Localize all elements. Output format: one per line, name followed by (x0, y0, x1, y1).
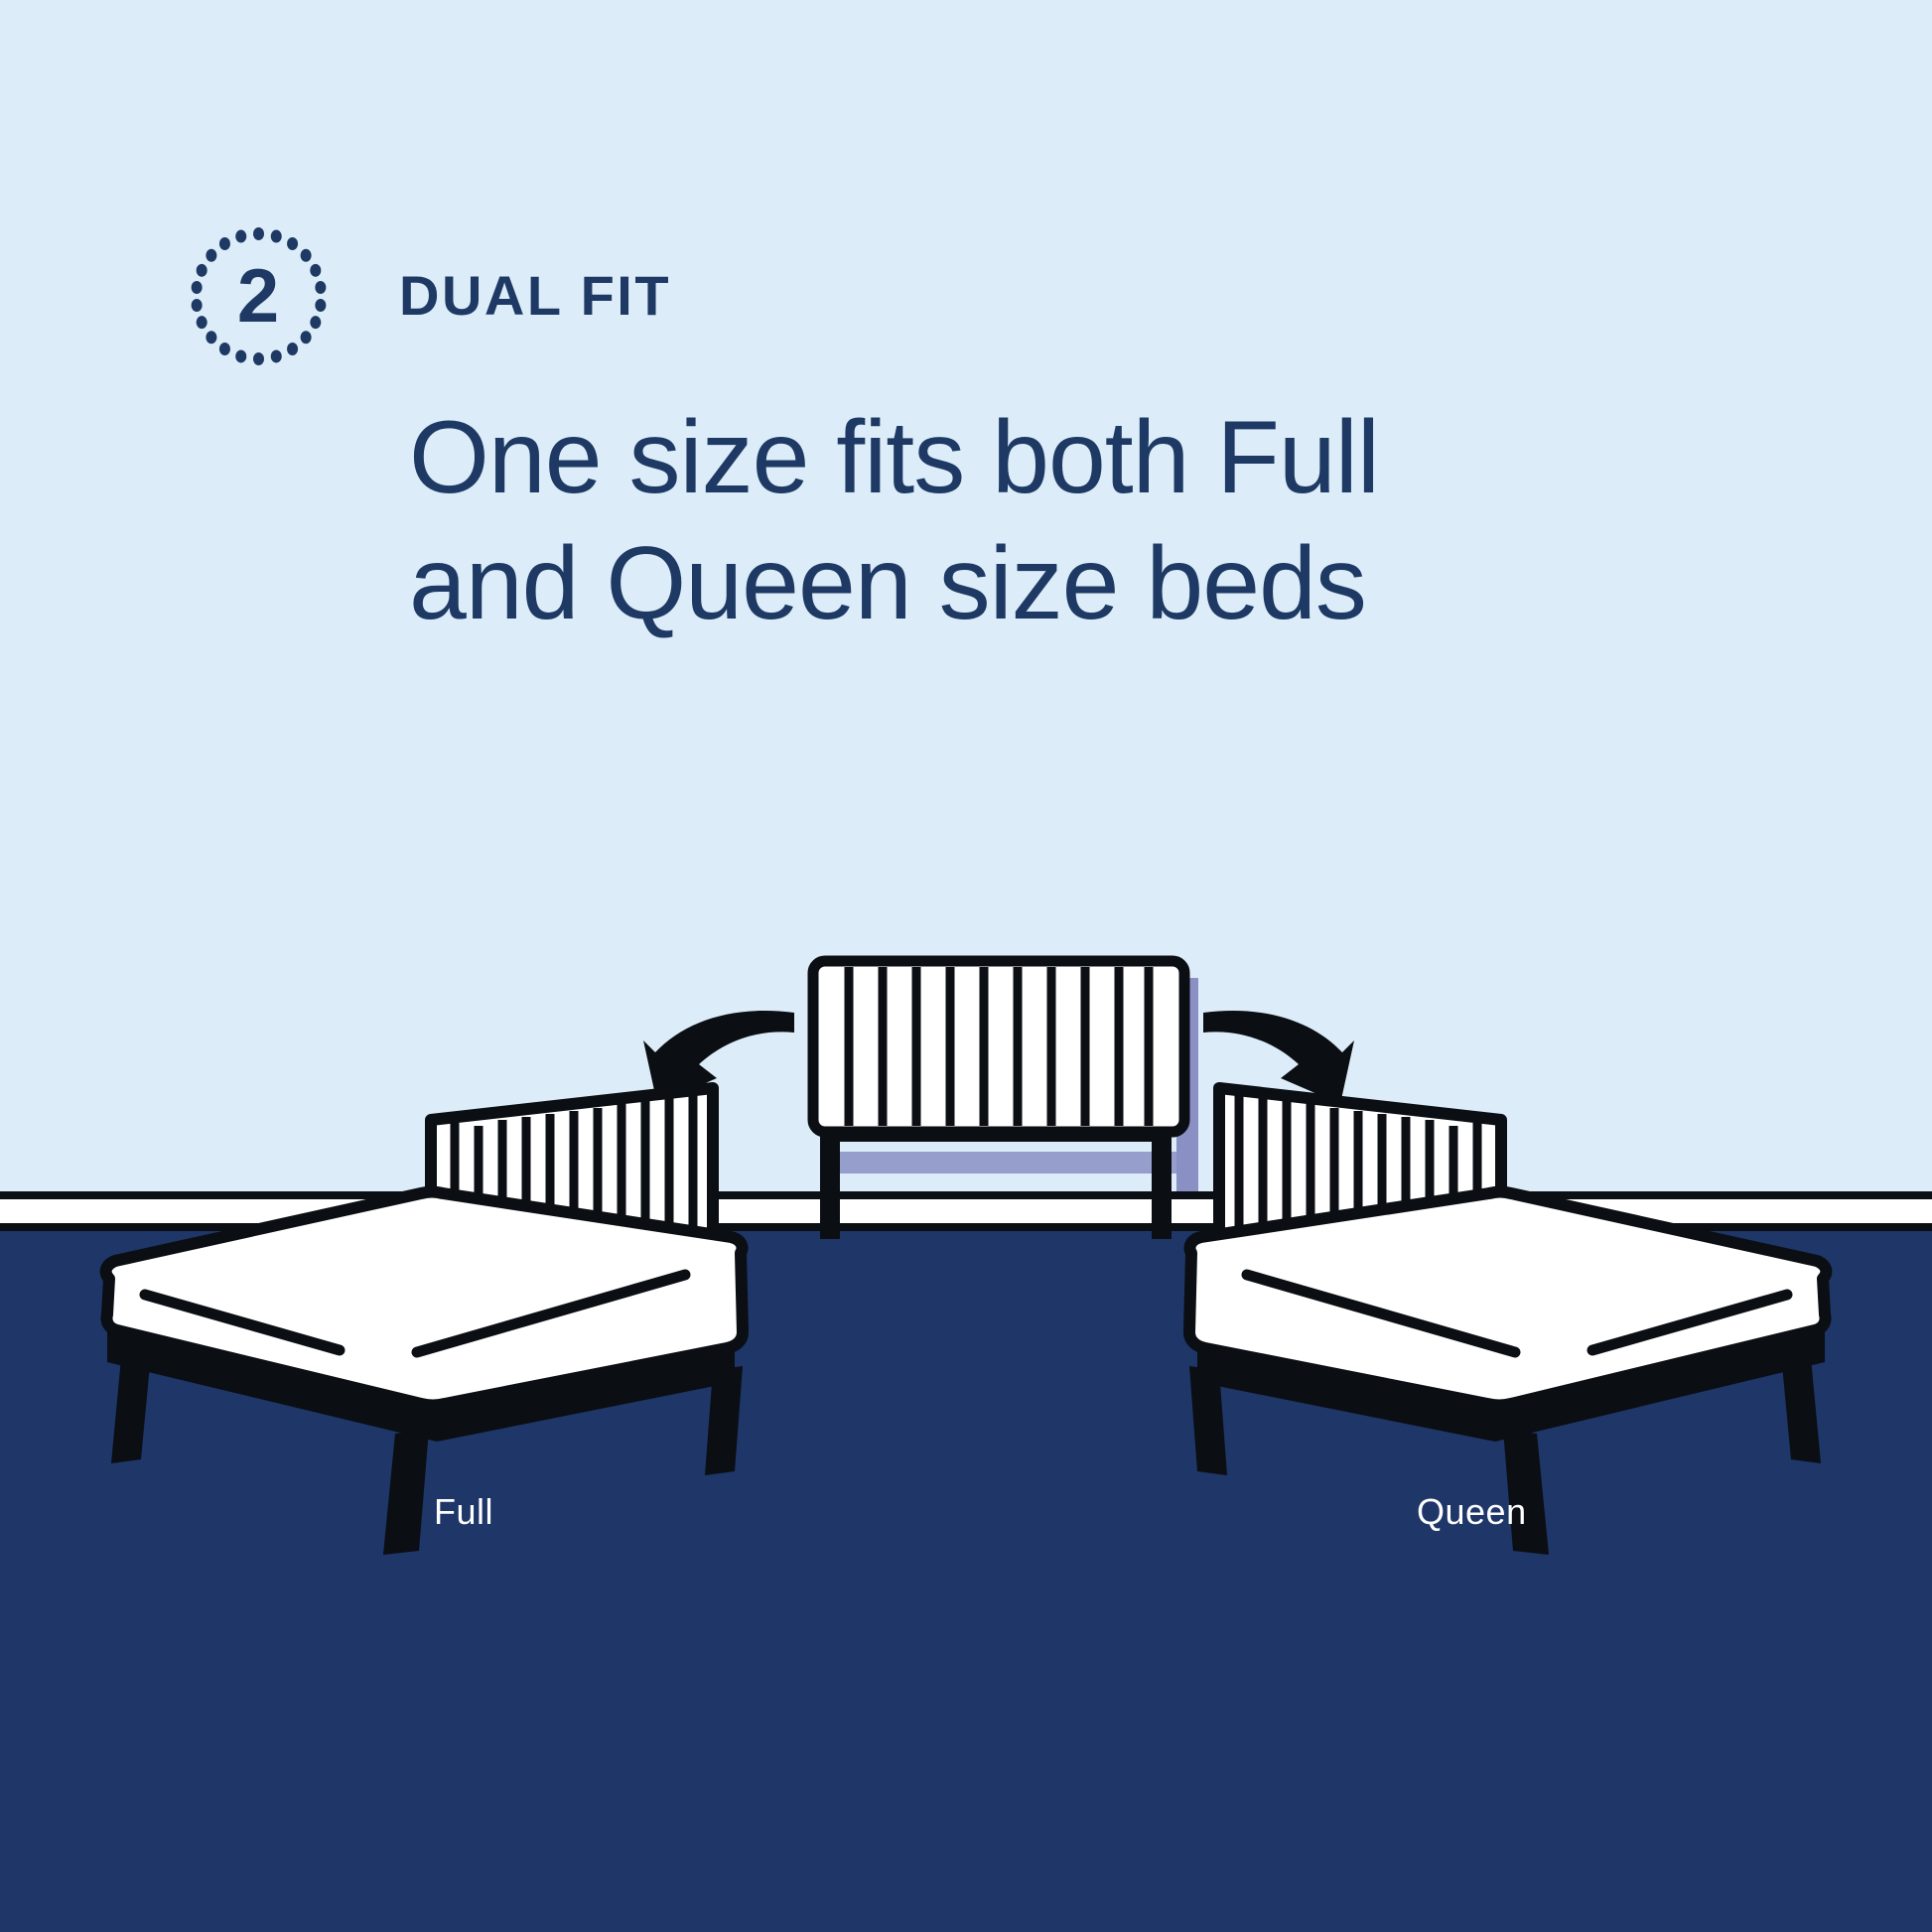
bed-label-queen: Queen (1417, 1491, 1527, 1533)
bed-label-full: Full (434, 1491, 493, 1533)
bed-leg (111, 1354, 151, 1463)
bedroom-illustration (0, 0, 1932, 1932)
dual-fit-infographic: 2 DUAL FIT One size fits both Full and Q… (0, 0, 1932, 1932)
bed-queen (1189, 1088, 1826, 1555)
bed-leg (383, 1430, 429, 1555)
standalone-headboard (813, 961, 1198, 1239)
bed-full (106, 1088, 743, 1555)
bed-leg (1781, 1354, 1821, 1463)
